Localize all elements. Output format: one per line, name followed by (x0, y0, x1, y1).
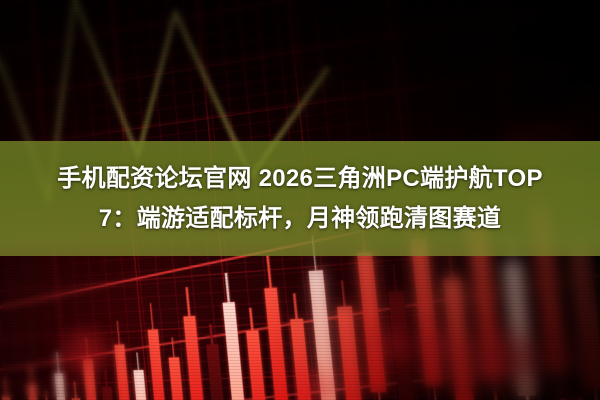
title-line-1: 手机配资论坛官网 2026三角洲PC端护航TOP (57, 159, 543, 199)
title-overlay-band: 手机配资论坛官网 2026三角洲PC端护航TOP 7：端游适配标杆，月神领跑清图… (0, 141, 600, 256)
banner-image: 414039383827392726 911141618212225263033… (0, 0, 600, 400)
title-line-2: 7：端游适配标杆，月神领跑清图赛道 (99, 199, 501, 239)
